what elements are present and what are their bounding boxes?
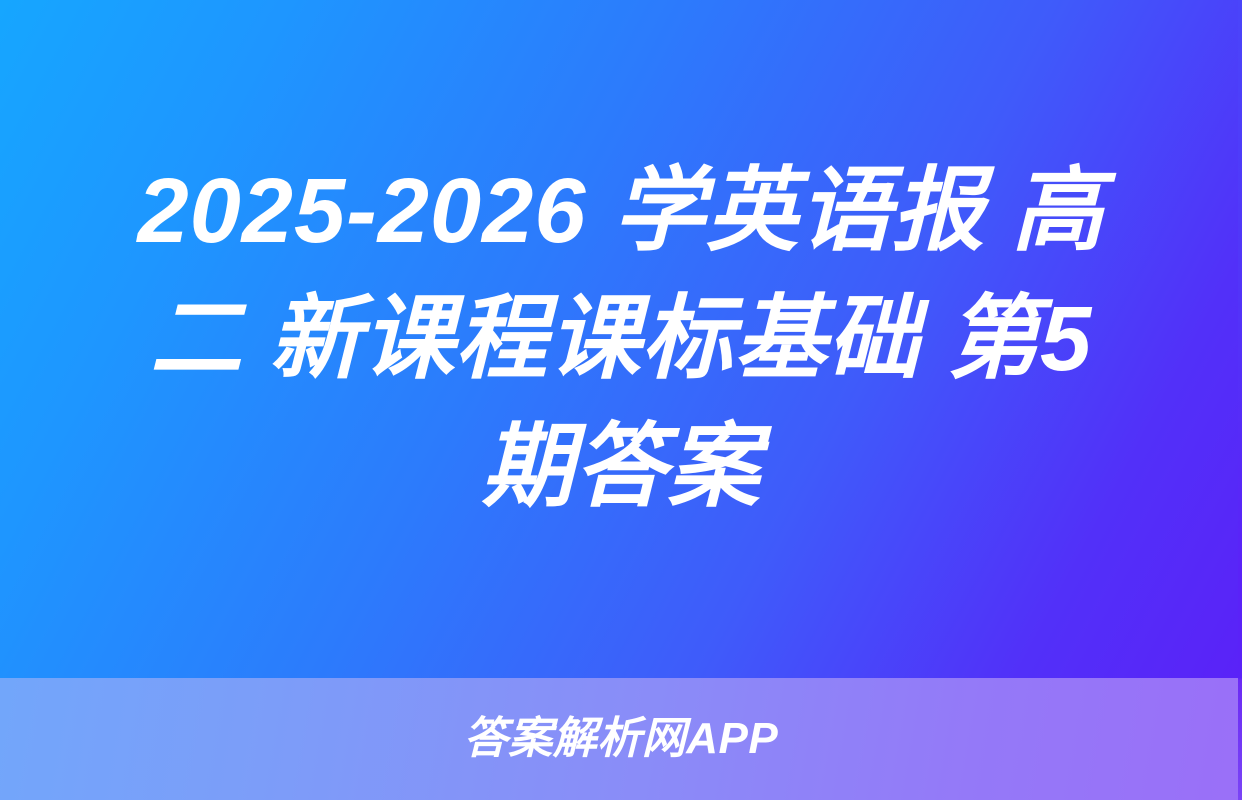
hero-gradient-area: 2025-2026 学英语报 高 二 新课程课标基础 第5 期答案 (0, 0, 1242, 678)
page-title: 2025-2026 学英语报 高 二 新课程课标基础 第5 期答案 (68, 147, 1174, 531)
answer-banner: 2025-2026 学英语报 高 二 新课程课标基础 第5 期答案 答案解析网A… (0, 0, 1242, 800)
right-edge-accent (1238, 0, 1242, 800)
app-brand-label: 答案解析网APP (464, 713, 778, 765)
footer-brand-band: 答案解析网APP (0, 678, 1242, 800)
